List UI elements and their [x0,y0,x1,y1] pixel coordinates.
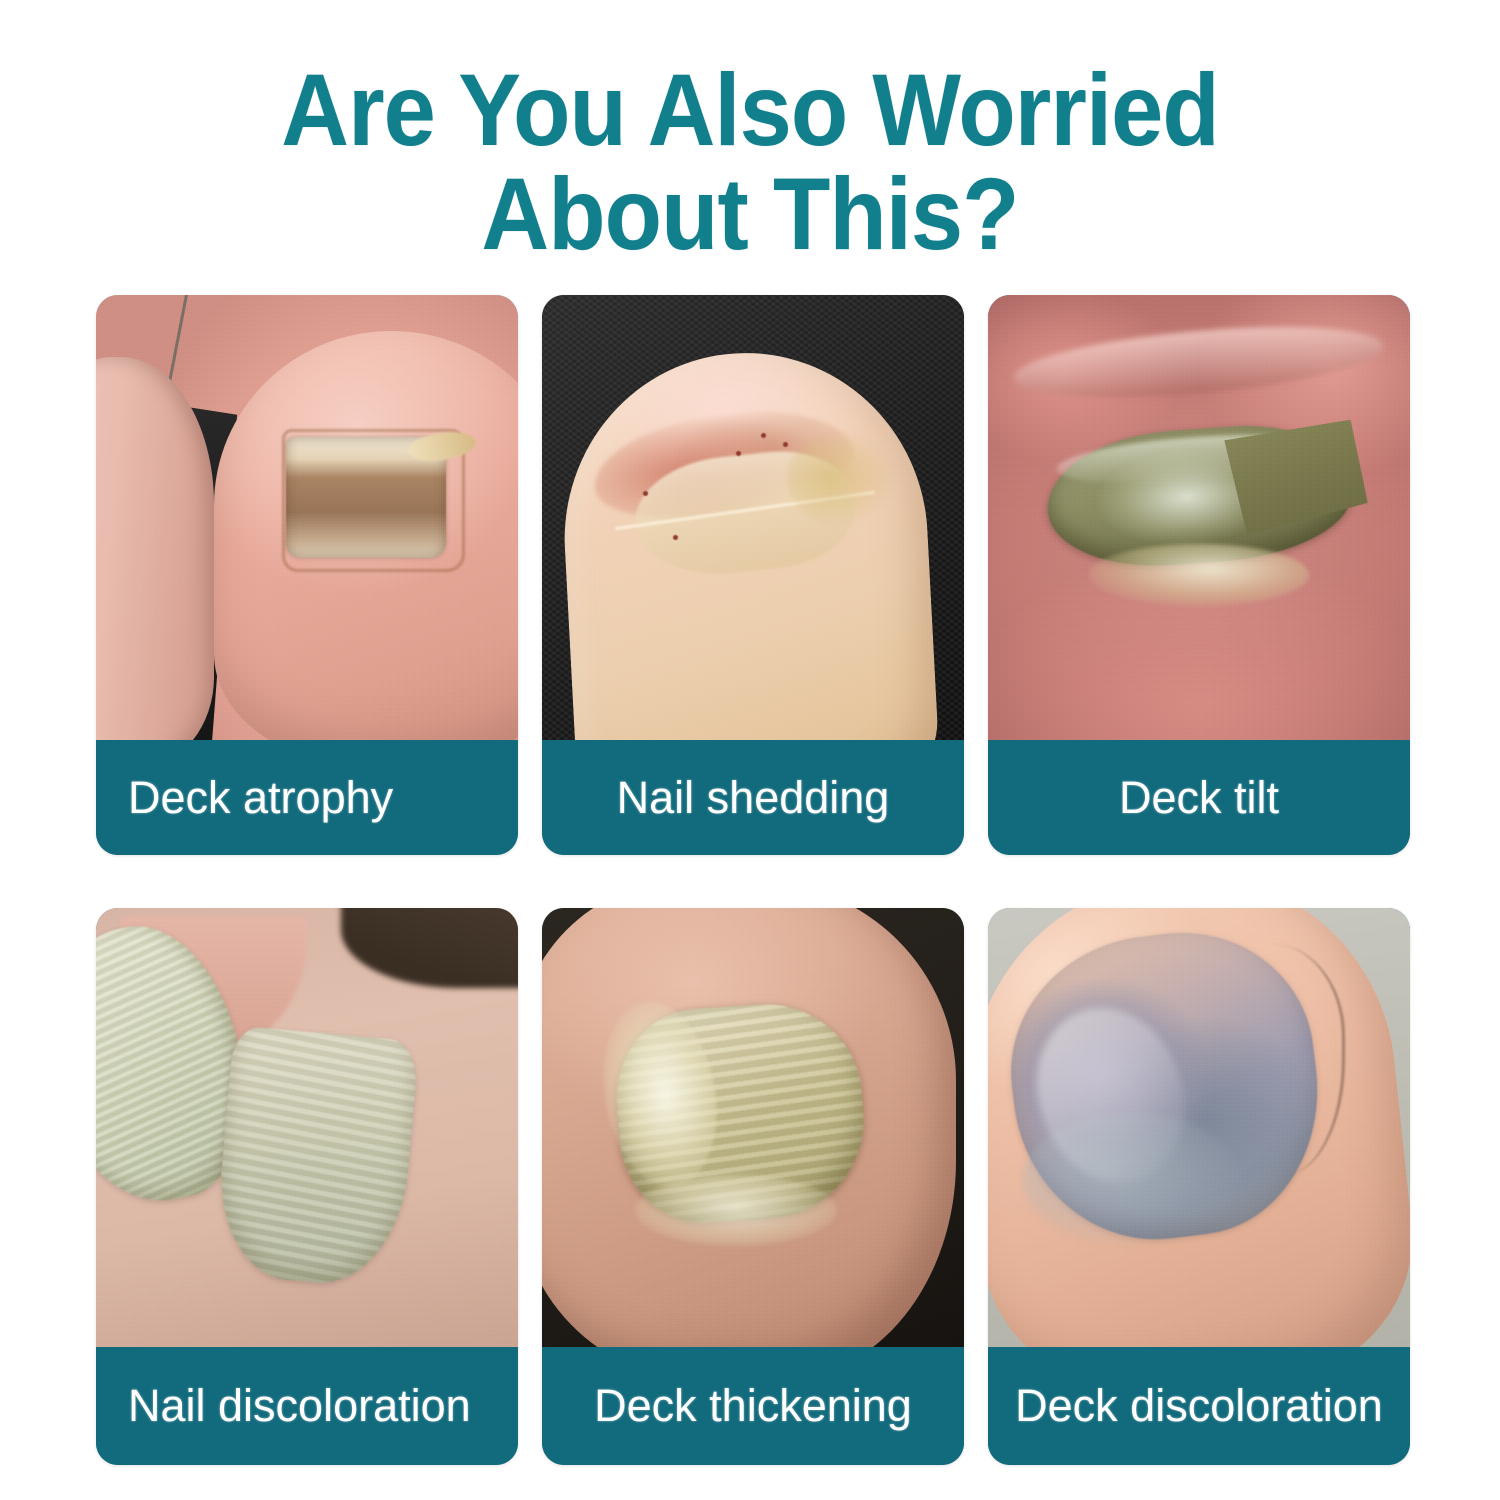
background-wire [158,295,190,436]
symptom-caption-deck-thickening: Deck thickening [542,1347,964,1465]
symptom-caption-nail-discoloration: Nail discoloration [96,1347,518,1465]
photo-art-nail-shedding [542,295,964,740]
symptom-card-nail-discoloration[interactable]: Nail discoloration [96,908,518,1465]
photo-art-deck-discoloration [988,908,1410,1353]
symptom-caption-deck-tilt: Deck tilt [988,740,1410,855]
symptom-card-nail-shedding[interactable]: Nail shedding [542,295,964,855]
symptom-photo-deck-atrophy [96,295,518,740]
crumbly-keratin-edge [635,1175,838,1246]
symptom-card-deck-atrophy[interactable]: Deck atrophy [96,295,518,855]
symptom-card-deck-thickening[interactable]: Deck thickening [542,908,964,1465]
speck [736,451,741,456]
symptom-photo-deck-thickening [542,908,964,1353]
symptom-caption-nail-shedding: Nail shedding [542,740,964,855]
yellow-patch [787,429,897,527]
photo-art-deck-atrophy [96,295,518,740]
symptom-gallery: Deck atrophy Nail sheddin [96,295,1406,1465]
photo-art-deck-thickening [542,908,964,1353]
subungual-debris [1089,544,1308,606]
speck [783,442,788,447]
symptom-card-deck-discoloration[interactable]: Deck discoloration [988,908,1410,1465]
symptom-photo-deck-discoloration [988,908,1410,1353]
nail-fold-edge [1224,944,1345,1175]
photo-art-deck-tilt [988,295,1410,740]
photo-art-nail-discoloration [96,908,518,1353]
symptom-caption-deck-discoloration: Deck discoloration [988,1347,1410,1465]
symptom-caption-deck-atrophy: Deck atrophy [96,740,518,855]
symptom-photo-nail-discoloration [96,908,518,1353]
symptom-photo-deck-tilt [988,295,1410,740]
nail-plate-right [212,1025,419,1289]
poster-root: Are You Also Worried About This? Deck at… [0,0,1500,1500]
page-title: Are You Also Worried About This? [60,58,1440,266]
symptom-photo-nail-shedding [542,295,964,740]
symptom-card-deck-tilt[interactable]: Deck tilt [988,295,1410,855]
